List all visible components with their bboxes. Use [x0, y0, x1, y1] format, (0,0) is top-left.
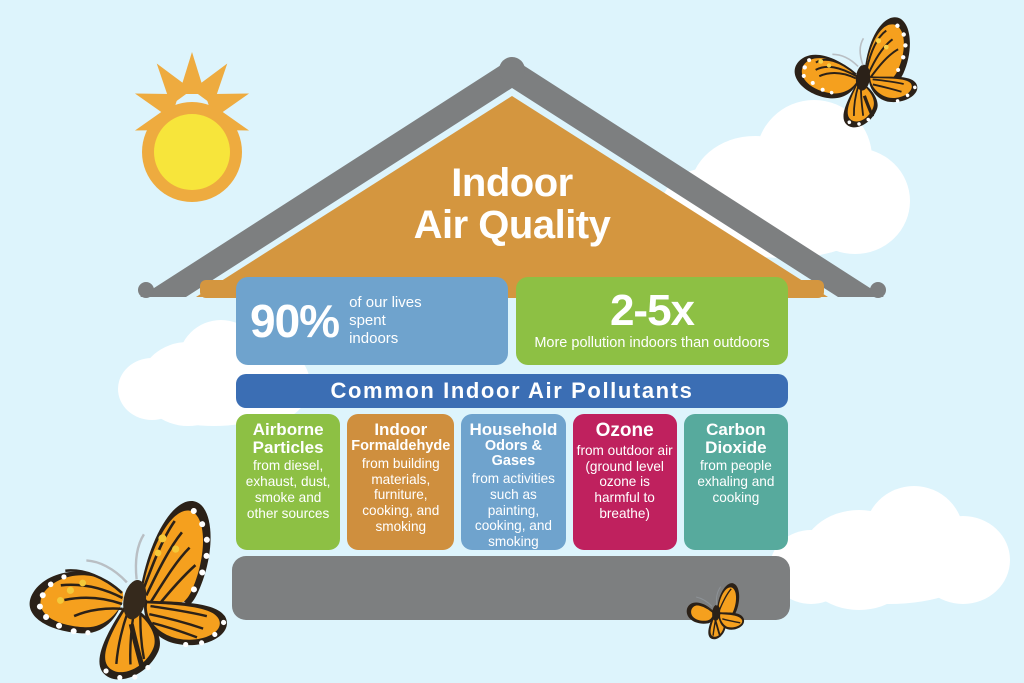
pollutant-title-line2: Odors & Gases	[465, 439, 561, 469]
pollutant-card-carbon-dioxide: Carbon Dioxide from people exhaling and …	[684, 414, 788, 550]
stat-caption-line-2: spent	[349, 312, 422, 330]
pollutant-title-line1: Household	[470, 421, 558, 439]
pollutant-title-line1: Ozone	[596, 421, 654, 441]
stat-card-lives-indoors: 90% of our lives spent indoors	[236, 277, 508, 365]
page-title-line2: Air Quality	[332, 204, 692, 246]
section-banner: Common Indoor Air Pollutants	[236, 374, 788, 408]
page-title-line1: Indoor	[332, 162, 692, 204]
stat-value-pollution-ratio: 2-5x	[610, 288, 694, 334]
pollutant-title-line1: Airborne	[253, 421, 324, 439]
stat-value-lives-indoors: 90%	[250, 298, 339, 344]
pollutant-card-ozone: Ozone from outdoor air (ground level ozo…	[573, 414, 677, 550]
pollutant-card-indoor-formaldehyde: Indoor Formaldehyde from building materi…	[347, 414, 454, 550]
pollutant-title-line2: Formaldehyde	[351, 439, 450, 454]
pollutant-card-list: Airborne Particles from diesel, exhaust,…	[236, 414, 788, 550]
pollutant-body: from people exhaling and cooking	[688, 458, 784, 505]
pollutant-title-line2: Dioxide	[705, 439, 766, 457]
pollutant-body: from building materials, furniture, cook…	[351, 456, 450, 535]
pollutant-title-line1: Carbon	[706, 421, 766, 439]
butterfly-top-right	[786, 14, 936, 134]
stat-caption-line-3: indoors	[349, 330, 422, 348]
page-title: Indoor Air Quality	[332, 162, 692, 246]
pollutant-body: from diesel, exhaust, dust, smoke and ot…	[240, 458, 336, 521]
butterfly-small-bottom	[680, 582, 750, 642]
stat-caption-lives-indoors: of our lives spent indoors	[349, 294, 422, 347]
pollutant-body: from outdoor air (ground level ozone is …	[577, 443, 673, 522]
pollutant-body: from activities such as painting, cookin…	[465, 471, 561, 550]
stat-caption-pollution-ratio: More pollution indoors than outdoors	[534, 336, 769, 352]
section-banner-label: Common Indoor Air Pollutants	[331, 378, 694, 404]
pollutant-card-household-odors-gases: Household Odors & Gases from activities …	[461, 414, 565, 550]
stat-card-pollution-ratio: 2-5x More pollution indoors than outdoor…	[516, 277, 788, 365]
pollutant-card-airborne-particles: Airborne Particles from diesel, exhaust,…	[236, 414, 340, 550]
stat-caption-line-1: of our lives	[349, 294, 422, 312]
pollutant-title-line1: Indoor	[374, 421, 427, 439]
butterfly-bottom-left	[16, 498, 246, 683]
pollutant-title-line2: Particles	[253, 439, 324, 457]
infographic-canvas: Indoor Air Quality 90% of our lives spen…	[0, 0, 1024, 683]
